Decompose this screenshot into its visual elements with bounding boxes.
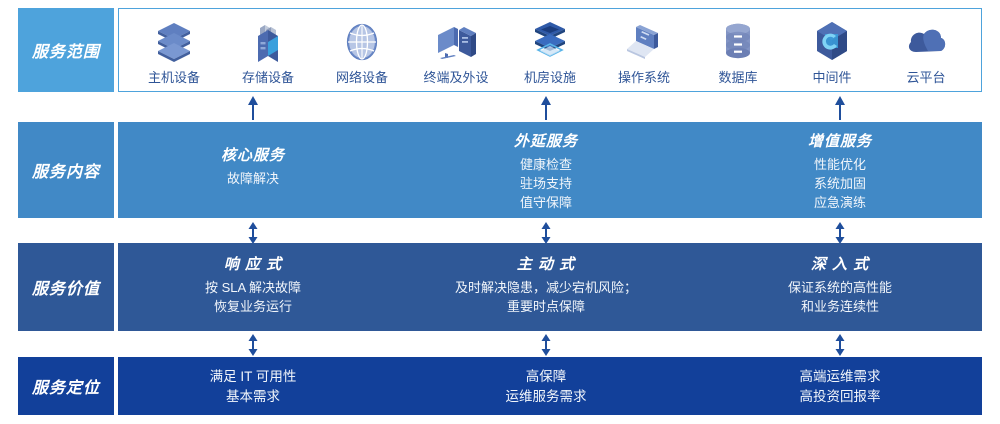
connector-content-to-value-col1 [244,222,262,244]
scope-item-host-device[interactable]: 主机设备 [127,14,221,86]
cell-line: 基本需求 [210,387,297,407]
cell-line: 性能优化 [808,155,872,174]
connector-scope-to-content-col2 [537,96,555,120]
content-cell-value-added-service: 增值服务 性能优化 系统加固 应急演练 [808,130,872,212]
cell-line: 应急演练 [808,193,872,212]
cell-line: 高保障 [506,367,587,387]
row-service-scope: 服务范围 主机设备 [0,8,1000,92]
desktop-pc-icon [434,20,478,64]
value-cell-proactive: 主 动 式 及时解决隐患，减少宕机风险； 重要时点保障 [455,253,637,316]
cell-title: 深 入 式 [788,253,892,274]
cell-title: 核心服务 [221,144,285,165]
cell-line: 高投资回报率 [800,387,881,407]
connector-content-to-value-col3 [831,222,849,244]
value-cell-responsive: 响 应 式 按 SLA 解决故障 恢复业务运行 [205,253,301,316]
laptop-os-icon [622,20,666,64]
cell-line: 系统加固 [808,174,872,193]
cell-title: 主 动 式 [455,253,637,274]
cell-line: 重要时点保障 [455,297,637,316]
position-cell-assurance: 高保障 运维服务需求 [506,367,587,407]
scope-item-label: 数据库 [718,67,757,86]
scope-item-label: 云平台 [906,67,945,86]
value-cell-indepth: 深 入 式 保证系统的高性能 和业务连续性 [788,253,892,316]
service-scope-panel: 主机设备 [118,8,982,92]
cell-line: 驻场支持 [514,174,578,193]
content-cell-extended-service: 外延服务 健康检查 驻场支持 值守保障 [514,130,578,212]
scope-item-label: 中间件 [812,67,851,86]
row-label-service-position: 服务定位 [18,357,114,415]
row-label-service-value: 服务价值 [18,243,114,331]
row-label-service-scope: 服务范围 [18,8,114,92]
position-cell-premium: 高端运维需求 高投资回报率 [800,367,881,407]
content-cell-core-service: 核心服务 故障解决 [221,144,285,188]
position-cell-basic: 满足 IT 可用性 基本需求 [210,367,297,407]
storage-array-icon [248,20,288,64]
middleware-cube-icon [811,20,853,64]
row-service-position: 服务定位 满足 IT 可用性 基本需求 高保障 运维服务需求 高端运维需求 高投… [0,357,1000,415]
connector-scope-to-content-col1 [244,96,262,120]
scope-item-label: 主机设备 [148,67,200,86]
cell-line: 保证系统的高性能 [788,278,892,297]
cloud-platform-icon [904,20,948,64]
connector-content-to-value-col2 [537,222,555,244]
service-content-panel: 核心服务 故障解决 外延服务 健康检查 驻场支持 值守保障 增值服务 性能优化 … [118,122,982,218]
scope-item-label: 终端及外设 [423,67,488,86]
datacenter-facility-icon [529,20,571,64]
database-cylinder-icon [718,20,758,64]
scope-item-datacenter-facility[interactable]: 机房设施 [503,14,597,86]
server-stack-icon [154,20,194,64]
cell-line: 及时解决隐患，减少宕机风险； [455,278,637,297]
cell-title: 增值服务 [808,130,872,151]
connector-scope-to-content-col3 [831,96,849,120]
scope-item-middleware[interactable]: 中间件 [785,14,879,86]
cell-line: 值守保障 [514,193,578,212]
connector-value-to-position-col1 [244,334,262,356]
scope-item-label: 机房设施 [524,67,576,86]
row-service-content: 服务内容 核心服务 故障解决 外延服务 健康检查 驻场支持 值守保障 增值服务 … [0,122,1000,218]
connector-value-to-position-col3 [831,334,849,356]
scope-item-storage-device[interactable]: 存储设备 [221,14,315,86]
cell-title: 响 应 式 [205,253,301,274]
cell-line: 恢复业务运行 [205,297,301,316]
cell-line: 按 SLA 解决故障 [205,278,301,297]
scope-item-label: 网络设备 [336,67,388,86]
service-value-panel: 响 应 式 按 SLA 解决故障 恢复业务运行 主 动 式 及时解决隐患，减少宕… [118,243,982,331]
cell-line: 故障解决 [221,169,285,188]
scope-item-operating-system[interactable]: 操作系统 [597,14,691,86]
scope-item-terminal-peripheral[interactable]: 终端及外设 [409,14,503,86]
cell-line: 运维服务需求 [506,387,587,407]
scope-item-cloud-platform[interactable]: 云平台 [879,14,973,86]
cell-title: 外延服务 [514,130,578,151]
globe-network-icon [342,20,382,64]
scope-item-network-device[interactable]: 网络设备 [315,14,409,86]
row-label-service-content: 服务内容 [18,122,114,218]
scope-item-label: 存储设备 [242,67,294,86]
service-system-diagram: 服务范围 主机设备 [0,0,1000,424]
row-service-value: 服务价值 响 应 式 按 SLA 解决故障 恢复业务运行 主 动 式 及时解决隐… [0,243,1000,331]
scope-item-database[interactable]: 数据库 [691,14,785,86]
scope-item-label: 操作系统 [618,67,670,86]
service-position-panel: 满足 IT 可用性 基本需求 高保障 运维服务需求 高端运维需求 高投资回报率 [118,357,982,415]
cell-line: 高端运维需求 [800,367,881,387]
cell-line: 健康检查 [514,155,578,174]
cell-line: 和业务连续性 [788,297,892,316]
connector-value-to-position-col2 [537,334,555,356]
cell-line: 满足 IT 可用性 [210,367,297,387]
